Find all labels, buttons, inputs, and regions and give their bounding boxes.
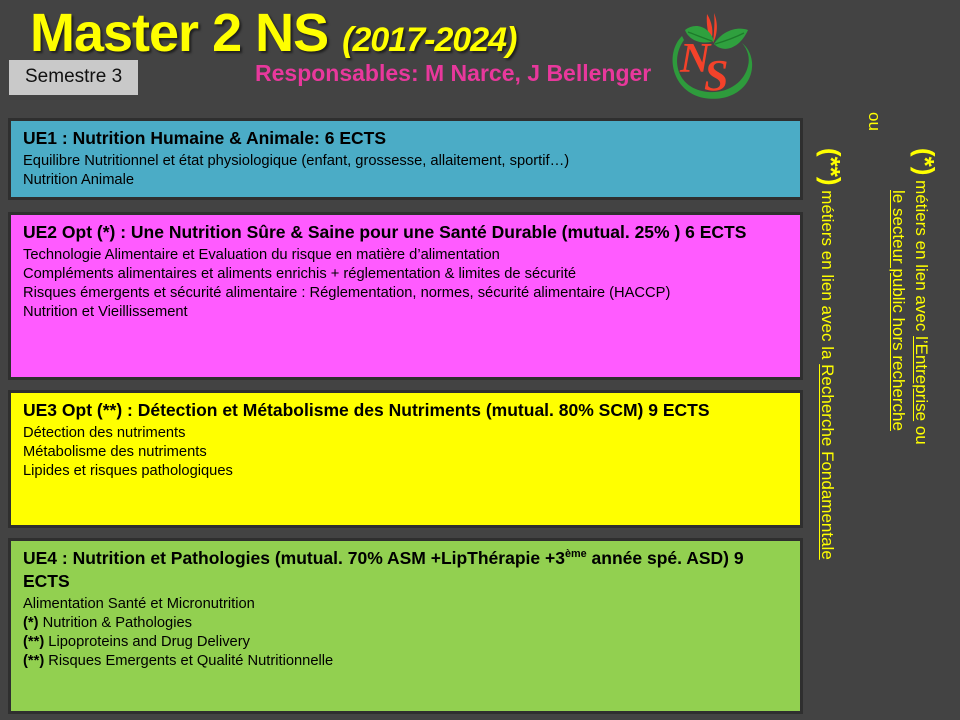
semestre-badge: Semestre 3 — [9, 60, 138, 95]
double-star-underline: Recherche Fondamentale — [818, 364, 837, 560]
ue4-heading-pre: UE4 : Nutrition et Pathologies (mutual. … — [23, 548, 565, 568]
single-star-mark: (*) — [910, 148, 940, 175]
ue4-line-4-text: Risques Emergents et Qualité Nutritionne… — [44, 653, 333, 669]
side-note-single-star-line2: le secteur public hors recherche — [888, 190, 908, 431]
ue3-line-1: Détection des nutriments — [23, 424, 790, 443]
single-star-line2-underline: le secteur public hors recherche — [889, 190, 908, 431]
ue-block-ue2: UE2 Opt (*) : Une Nutrition Sûre & Saine… — [8, 212, 803, 380]
ue1-line-2: Nutrition Animale — [23, 171, 790, 190]
ue4-line-3-mark: (**) — [23, 634, 44, 650]
ue4-line-3: (**) Lipoproteins and Drug Delivery — [23, 633, 790, 652]
svg-text:S: S — [704, 51, 728, 100]
ue4-line-2-mark: (*) — [23, 615, 39, 631]
ue4-line-2: (*) Nutrition & Pathologies — [23, 614, 790, 633]
ue2-line-2: Compléments alimentaires et aliments enr… — [23, 265, 790, 284]
ue4-line-2-text: Nutrition & Pathologies — [39, 615, 193, 631]
title-years: (2017-2024) — [342, 21, 516, 59]
slide-header: Master 2 NS (2017-2024) Semestre 3 Respo… — [0, 0, 960, 112]
ue3-line-3: Lipides et risques pathologiques — [23, 462, 790, 481]
side-note-ou: ou — [864, 112, 884, 131]
single-star-underline: l’Entreprise — [912, 336, 931, 421]
page-title: Master 2 NS (2017-2024) — [30, 2, 516, 64]
ue4-line-3-text: Lipoproteins and Drug Delivery — [44, 634, 250, 650]
double-star-text: métiers en lien avec la — [818, 186, 837, 365]
ue1-heading: UE1 : Nutrition Humaine & Animale: 6 ECT… — [23, 127, 790, 150]
ue4-line-4-mark: (**) — [23, 653, 44, 669]
single-star-tail: ou — [912, 421, 931, 445]
ue-block-ue1: UE1 : Nutrition Humaine & Animale: 6 ECT… — [8, 118, 803, 200]
ue4-line-1-text: Alimentation Santé et Micronutrition — [23, 596, 255, 612]
ue-block-ue3: UE3 Opt (**) : Détection et Métabolisme … — [8, 390, 803, 528]
ue2-line-4: Nutrition et Vieillissement — [23, 303, 790, 322]
double-star-mark: (**) — [816, 148, 846, 186]
slide-root: Master 2 NS (2017-2024) Semestre 3 Respo… — [0, 0, 960, 720]
title-main: Master 2 NS — [30, 3, 328, 63]
ue4-heading: UE4 : Nutrition et Pathologies (mutual. … — [23, 547, 790, 593]
ue4-line-4: (**) Risques Emergents et Qualité Nutrit… — [23, 652, 790, 671]
ue2-heading: UE2 Opt (*) : Une Nutrition Sûre & Saine… — [23, 221, 790, 244]
ue3-heading: UE3 Opt (**) : Détection et Métabolisme … — [23, 399, 790, 422]
ue-block-ue4: UE4 : Nutrition et Pathologies (mutual. … — [8, 538, 803, 714]
ue4-line-1: Alimentation Santé et Micronutrition — [23, 595, 790, 614]
ue2-line-3: Risques émergents et sécurité alimentair… — [23, 284, 790, 303]
side-note-double-star: (**) métiers en lien avec la Recherche F… — [815, 148, 846, 560]
ue1-line-1: Equilibre Nutritionnel et état physiolog… — [23, 152, 790, 171]
ue4-heading-sup: ème — [565, 548, 587, 560]
ue2-line-1: Technologie Alimentaire et Evaluation du… — [23, 246, 790, 265]
responsables-label: Responsables: M Narce, J Bellenger — [255, 60, 651, 87]
side-note-single-star: (*) métiers en lien avec l’Entreprise ou — [909, 148, 940, 445]
ns-leaf-logo-icon: N S — [662, 6, 767, 106]
single-star-text: métiers en lien avec — [912, 175, 931, 336]
ue3-line-2: Métabolisme des nutriments — [23, 443, 790, 462]
